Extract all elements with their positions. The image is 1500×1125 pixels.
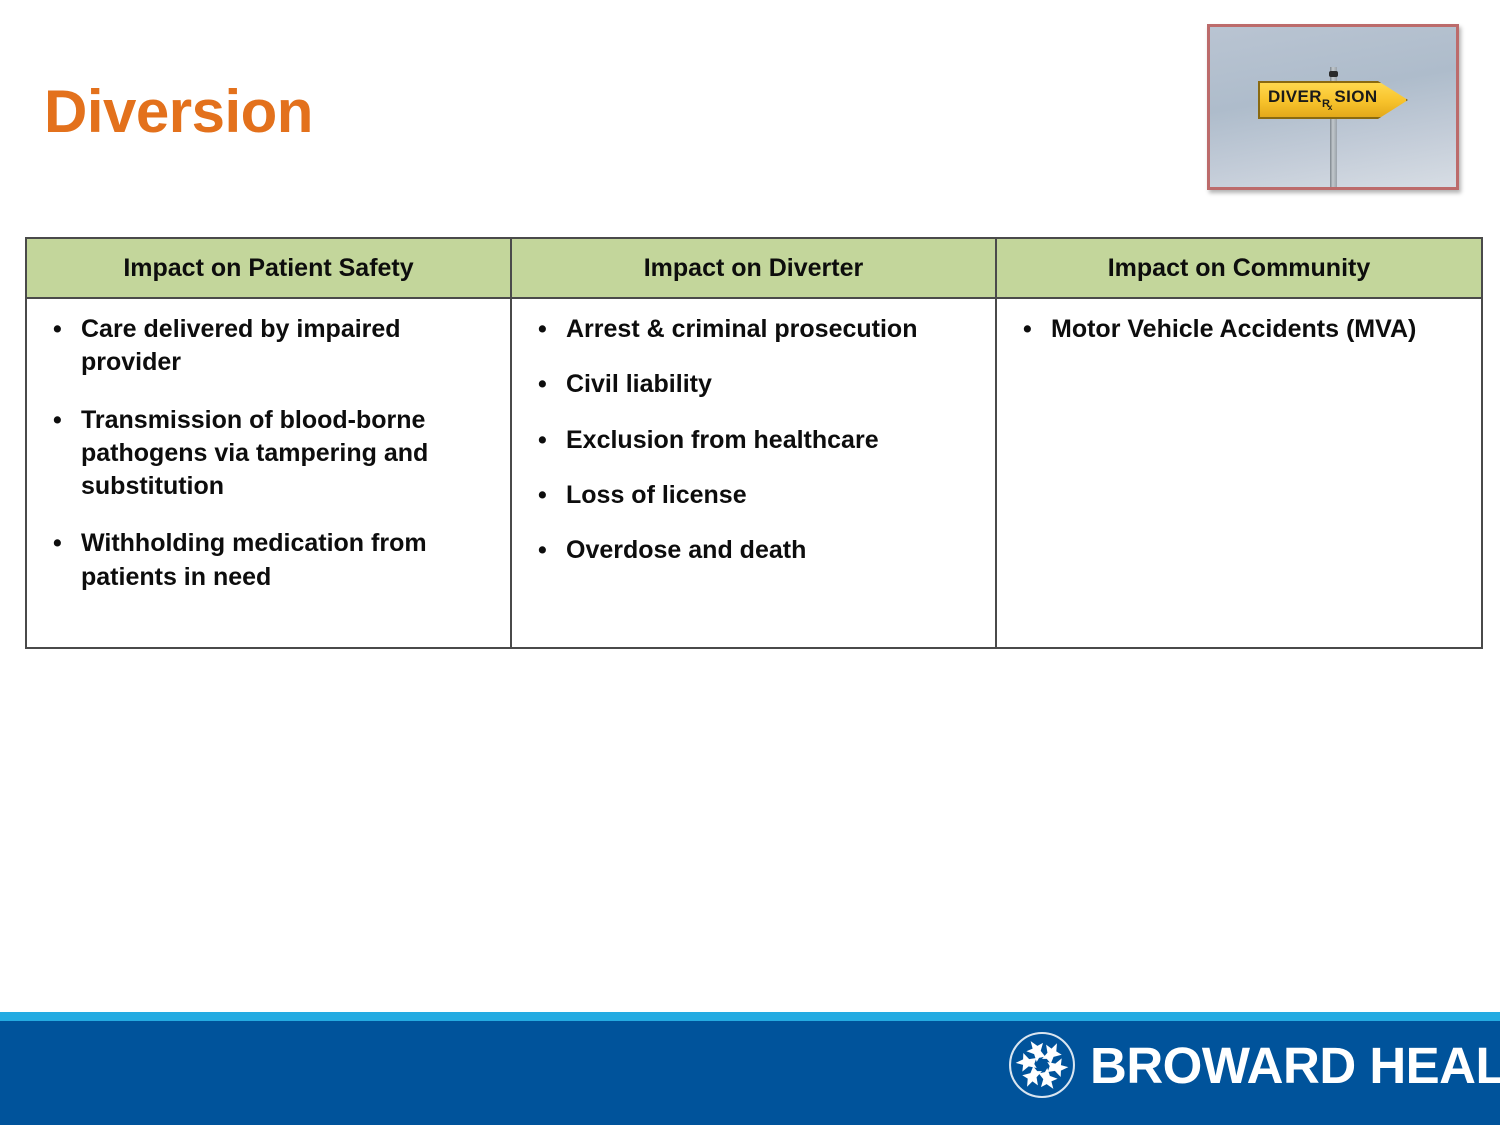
bullet-icon: • xyxy=(53,404,62,437)
bullet-icon: • xyxy=(53,313,62,346)
column-header-diverter: Impact on Diverter xyxy=(511,238,996,298)
list-item: • Overdose and death xyxy=(526,534,977,567)
list-item: • Loss of license xyxy=(526,479,977,512)
rx-symbol-icon: Rx xyxy=(1322,98,1334,110)
list-item-label: Motor Vehicle Accidents (MVA) xyxy=(1051,315,1416,343)
list-item: • Civil liability xyxy=(526,368,977,401)
bullet-list-patient-safety: • Care delivered by impaired provider • … xyxy=(27,299,510,594)
list-item: • Transmission of blood-borne pathogens … xyxy=(41,404,492,504)
sign-text-suffix: SION xyxy=(1334,87,1377,106)
list-item: • Withholding medication from patients i… xyxy=(41,527,492,594)
list-item-label: Transmission of blood-borne pathogens vi… xyxy=(81,406,428,501)
slide-canvas: Diversion DIVERRxSION Impact on Patient … xyxy=(0,0,1500,1125)
diversion-sign-image: DIVERRxSION xyxy=(1207,24,1459,190)
bullet-icon: • xyxy=(538,313,547,346)
sign-cap-icon xyxy=(1329,71,1338,77)
list-item: • Exclusion from healthcare xyxy=(526,424,977,457)
list-item-label: Withholding medication from patients in … xyxy=(81,529,427,590)
bullet-icon: • xyxy=(538,479,547,512)
column-header-community: Impact on Community xyxy=(996,238,1482,298)
sign-board: DIVERRxSION xyxy=(1258,81,1408,119)
list-item: • Care delivered by impaired provider xyxy=(41,313,492,380)
bullet-icon: • xyxy=(538,368,547,401)
bullet-icon: • xyxy=(538,424,547,457)
sign-text: DIVERRxSION xyxy=(1268,88,1378,105)
broward-health-star-logo-icon xyxy=(1008,1031,1076,1099)
list-item-label: Loss of license xyxy=(566,481,747,509)
list-item: • Motor Vehicle Accidents (MVA) xyxy=(1011,313,1463,346)
bullet-list-diverter: • Arrest & criminal prosecution • Civil … xyxy=(512,299,995,567)
bullet-icon: • xyxy=(53,527,62,560)
page-title: Diversion xyxy=(44,79,313,145)
impact-table: Impact on Patient Safety Impact on Diver… xyxy=(25,237,1483,649)
cell-patient-safety: • Care delivered by impaired provider • … xyxy=(26,298,511,648)
bullet-icon: • xyxy=(1023,313,1032,346)
list-item-label: Arrest & criminal prosecution xyxy=(566,315,917,343)
footer-accent-stripe xyxy=(0,1012,1500,1021)
list-item-label: Care delivered by impaired provider xyxy=(81,315,401,376)
list-item-label: Civil liability xyxy=(566,370,712,398)
rx-letter-x: x xyxy=(1328,103,1332,112)
bullet-icon: • xyxy=(538,534,547,567)
table-header-row: Impact on Patient Safety Impact on Diver… xyxy=(26,238,1482,298)
brand-lockup: BROWARD HEALTH® xyxy=(1008,1031,1500,1099)
cell-diverter: • Arrest & criminal prosecution • Civil … xyxy=(511,298,996,648)
brand-name: BROWARD HEALTH® xyxy=(1090,1040,1500,1091)
column-header-patient-safety: Impact on Patient Safety xyxy=(26,238,511,298)
list-item: • Arrest & criminal prosecution xyxy=(526,313,977,346)
list-item-label: Overdose and death xyxy=(566,536,806,564)
bullet-list-community: • Motor Vehicle Accidents (MVA) xyxy=(997,299,1481,346)
brand-name-text: BROWARD HEALTH xyxy=(1090,1037,1500,1094)
cell-community: • Motor Vehicle Accidents (MVA) xyxy=(996,298,1482,648)
sign-text-prefix: DIVER xyxy=(1268,87,1322,106)
table-row: • Care delivered by impaired provider • … xyxy=(26,298,1482,648)
list-item-label: Exclusion from healthcare xyxy=(566,426,879,454)
